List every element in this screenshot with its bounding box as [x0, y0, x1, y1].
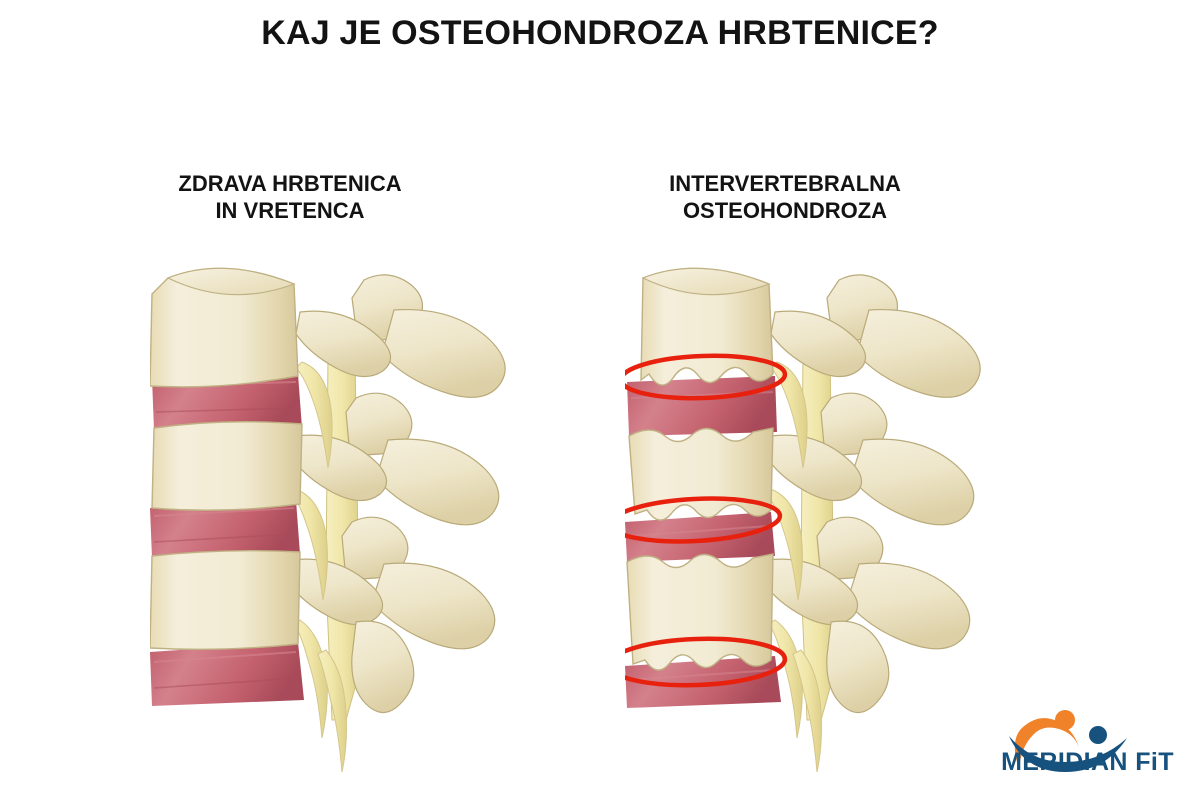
vertebral-processes-group: [763, 275, 980, 713]
heading-line-2: OSTEOHONDROZA: [610, 197, 960, 224]
wordmark-text: MERIDIAN FiT: [1001, 748, 1174, 776]
heading-line-1: ZDRAVA HRBTENICA: [115, 170, 465, 197]
page-title: KAJ JE OSTEOHONDROZA HRBTENICE?: [0, 14, 1200, 53]
heading-line-1: INTERVERTEBRALNA: [610, 170, 960, 197]
intervertebral-disc-3: [150, 642, 304, 706]
degenerated-disc-1: [627, 376, 777, 436]
logo-orange-head: [1055, 710, 1075, 730]
logo-navy-head: [1089, 726, 1107, 744]
heading-line-2: IN VRETENCA: [115, 197, 465, 224]
degenerated-spine-illustration: [625, 250, 1025, 790]
vertebral-body-2: [152, 422, 302, 511]
vertebral-body-3: [150, 551, 300, 650]
healthy-spine-illustration: [150, 250, 550, 790]
degenerated-vertebral-body-1: [641, 268, 773, 385]
brand-wordmark: MERIDIAN FiT: [985, 748, 1190, 777]
vertebral-processes-group: [288, 275, 505, 713]
vertebral-body-1: [150, 268, 298, 387]
panel-heading-healthy: ZDRAVA HRBTENICA IN VRETENCA: [115, 170, 465, 224]
panel-heading-diseased: INTERVERTEBRALNA OSTEOHONDROZA: [610, 170, 960, 224]
degenerated-vertebral-body-3: [627, 554, 773, 670]
